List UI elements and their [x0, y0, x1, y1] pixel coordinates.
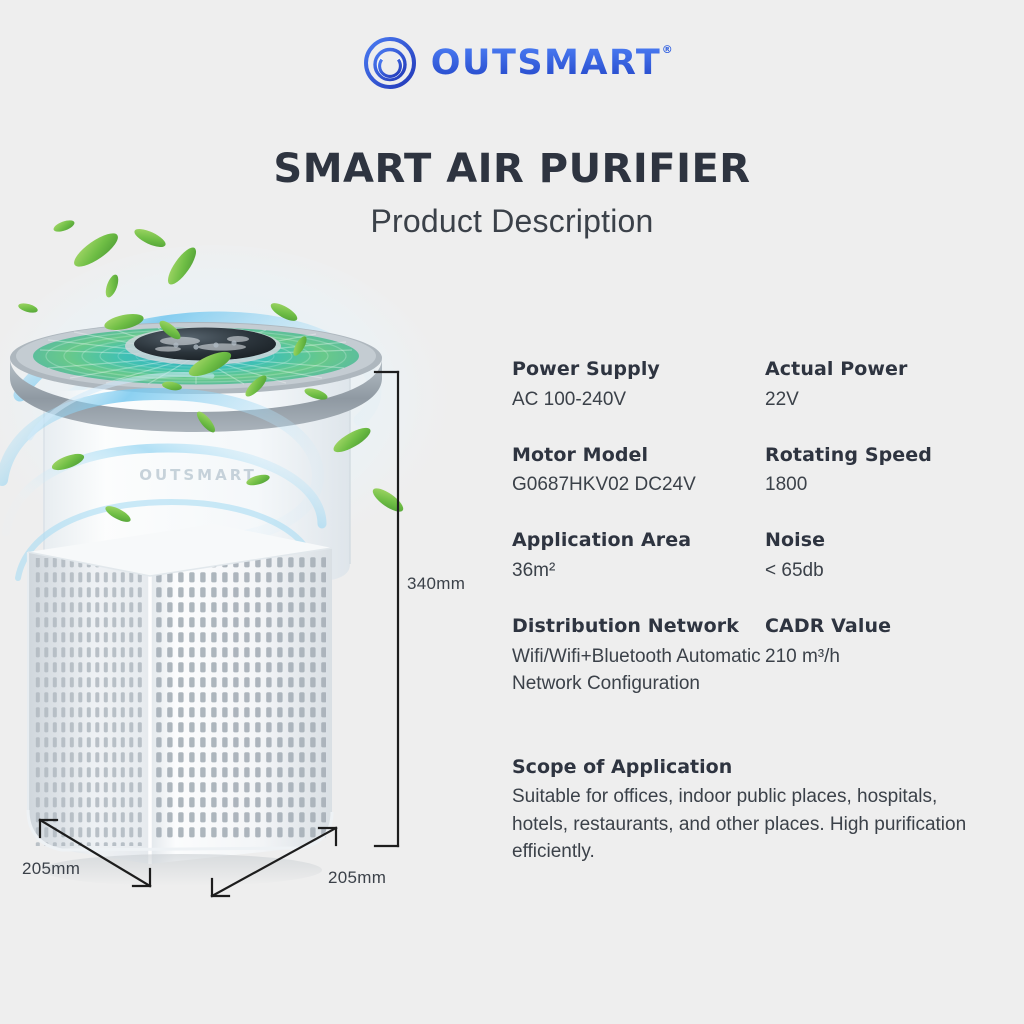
- spec-label: Distribution Network: [512, 615, 765, 639]
- brand-header: OUTSMART ®: [0, 36, 1024, 90]
- product-body-brandmark: OUTSMART: [139, 466, 257, 484]
- dimension-label-depth: 205mm: [22, 859, 80, 879]
- power-button-circle-icon: [363, 36, 417, 90]
- spec-item-cadr-value: CADR Value 210 m³/h: [765, 615, 992, 698]
- spec-value: 36m²: [512, 558, 765, 585]
- spec-label: Actual Power: [765, 358, 992, 382]
- brand-name-text: OUTSMART: [431, 43, 661, 83]
- product-illustration: OUTSMART: [0, 180, 500, 940]
- scope-label: Scope of Application: [512, 756, 982, 778]
- spec-value: 1800: [765, 472, 992, 499]
- spec-item-rotating-speed: Rotating Speed 1800: [765, 444, 992, 500]
- spec-item-actual-power: Actual Power 22V: [765, 358, 992, 414]
- brand-wordmark: OUTSMART ®: [431, 46, 661, 81]
- spec-label: CADR Value: [765, 615, 992, 639]
- spec-value: G0687HKV02 DC24V: [512, 472, 765, 499]
- scope-text: Suitable for offices, indoor public plac…: [512, 783, 982, 866]
- spec-item-motor-model: Motor Model G0687HKV02 DC24V: [512, 444, 765, 500]
- spec-value: Wifi/Wifi+Bluetooth Automatic Network Co…: [512, 644, 765, 698]
- dimension-label-width: 205mm: [328, 868, 386, 888]
- registered-trademark-icon: ®: [662, 44, 675, 55]
- dimension-label-height: 340mm: [407, 574, 465, 594]
- spec-value: < 65db: [765, 558, 992, 585]
- purifier-lower-body: [28, 524, 332, 864]
- spec-label: Motor Model: [512, 444, 765, 468]
- product-infographic-page: OUTSMART ® SMART AIR PURIFIER Product De…: [0, 0, 1024, 1024]
- spec-label: Application Area: [512, 529, 765, 553]
- spec-label: Power Supply: [512, 358, 765, 382]
- spec-item-noise: Noise < 65db: [765, 529, 992, 585]
- spec-value: 210 m³/h: [765, 644, 992, 671]
- spec-label: Noise: [765, 529, 992, 553]
- spec-label: Rotating Speed: [765, 444, 992, 468]
- spec-item-application-area: Application Area 36m²: [512, 529, 765, 585]
- spec-item-power-supply: Power Supply AC 100-240V: [512, 358, 765, 414]
- spec-item-distribution-network: Distribution Network Wifi/Wifi+Bluetooth…: [512, 615, 765, 698]
- specifications-grid: Power Supply AC 100-240V Actual Power 22…: [512, 358, 992, 698]
- scope-of-application-block: Scope of Application Suitable for office…: [512, 756, 982, 866]
- spec-value: 22V: [765, 387, 992, 414]
- spec-value: AC 100-240V: [512, 387, 765, 414]
